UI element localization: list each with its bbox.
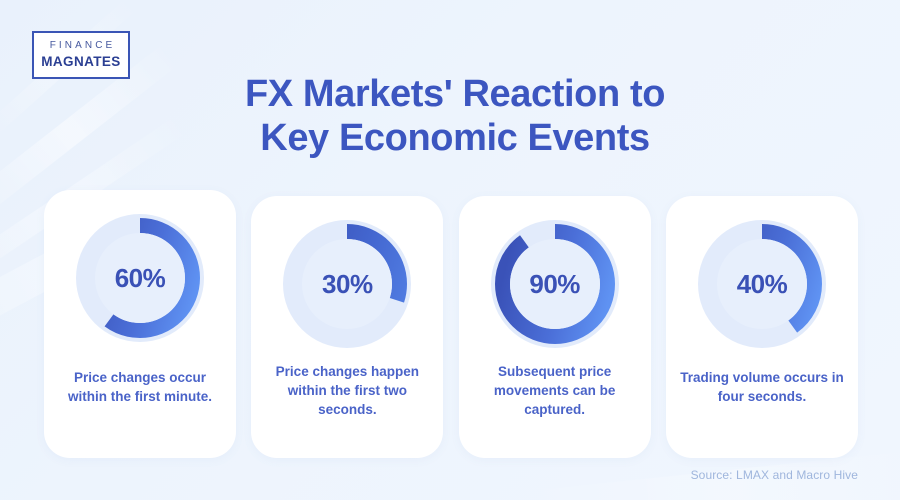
donut-value-label: 30% — [283, 220, 411, 348]
donut-value-label: 60% — [76, 214, 204, 342]
stat-card: 30% Price changes happen within the firs… — [251, 196, 443, 458]
logo-line-finance: FINANCE — [47, 41, 116, 51]
stat-card-caption: Price changes happen within the first tw… — [263, 362, 431, 419]
logo-line-magnates: MAGNATES — [41, 55, 120, 69]
donut-chart: 40% — [698, 220, 826, 348]
stat-card: 90% Subsequent price movements can be ca… — [459, 196, 651, 458]
stat-card-caption: Subsequent price movements can be captur… — [471, 362, 639, 419]
donut-chart: 90% — [491, 220, 619, 348]
donut-chart: 30% — [283, 220, 411, 348]
page-title-line-2: Key Economic Events — [150, 116, 760, 160]
donut-chart: 60% — [76, 214, 204, 342]
page-title: FX Markets' Reaction to Key Economic Eve… — [150, 72, 760, 160]
stat-card-caption: Price changes occur within the first min… — [56, 368, 224, 406]
stat-card: 60% Price changes occur within the first… — [44, 190, 236, 458]
finance-magnates-logo: FINANCE MAGNATES — [32, 31, 130, 79]
stat-card-list: 60% Price changes occur within the first… — [44, 190, 858, 458]
source-note: Source: LMAX and Macro Hive — [691, 468, 858, 482]
infographic-canvas: FINANCE MAGNATES FX Markets' Reaction to… — [0, 0, 900, 500]
donut-value-label: 90% — [491, 220, 619, 348]
stat-card-caption: Trading volume occurs in four seconds. — [678, 368, 846, 406]
stat-card: 40% Trading volume occurs in four second… — [666, 196, 858, 458]
donut-value-label: 40% — [698, 220, 826, 348]
page-title-line-1: FX Markets' Reaction to — [150, 72, 760, 116]
